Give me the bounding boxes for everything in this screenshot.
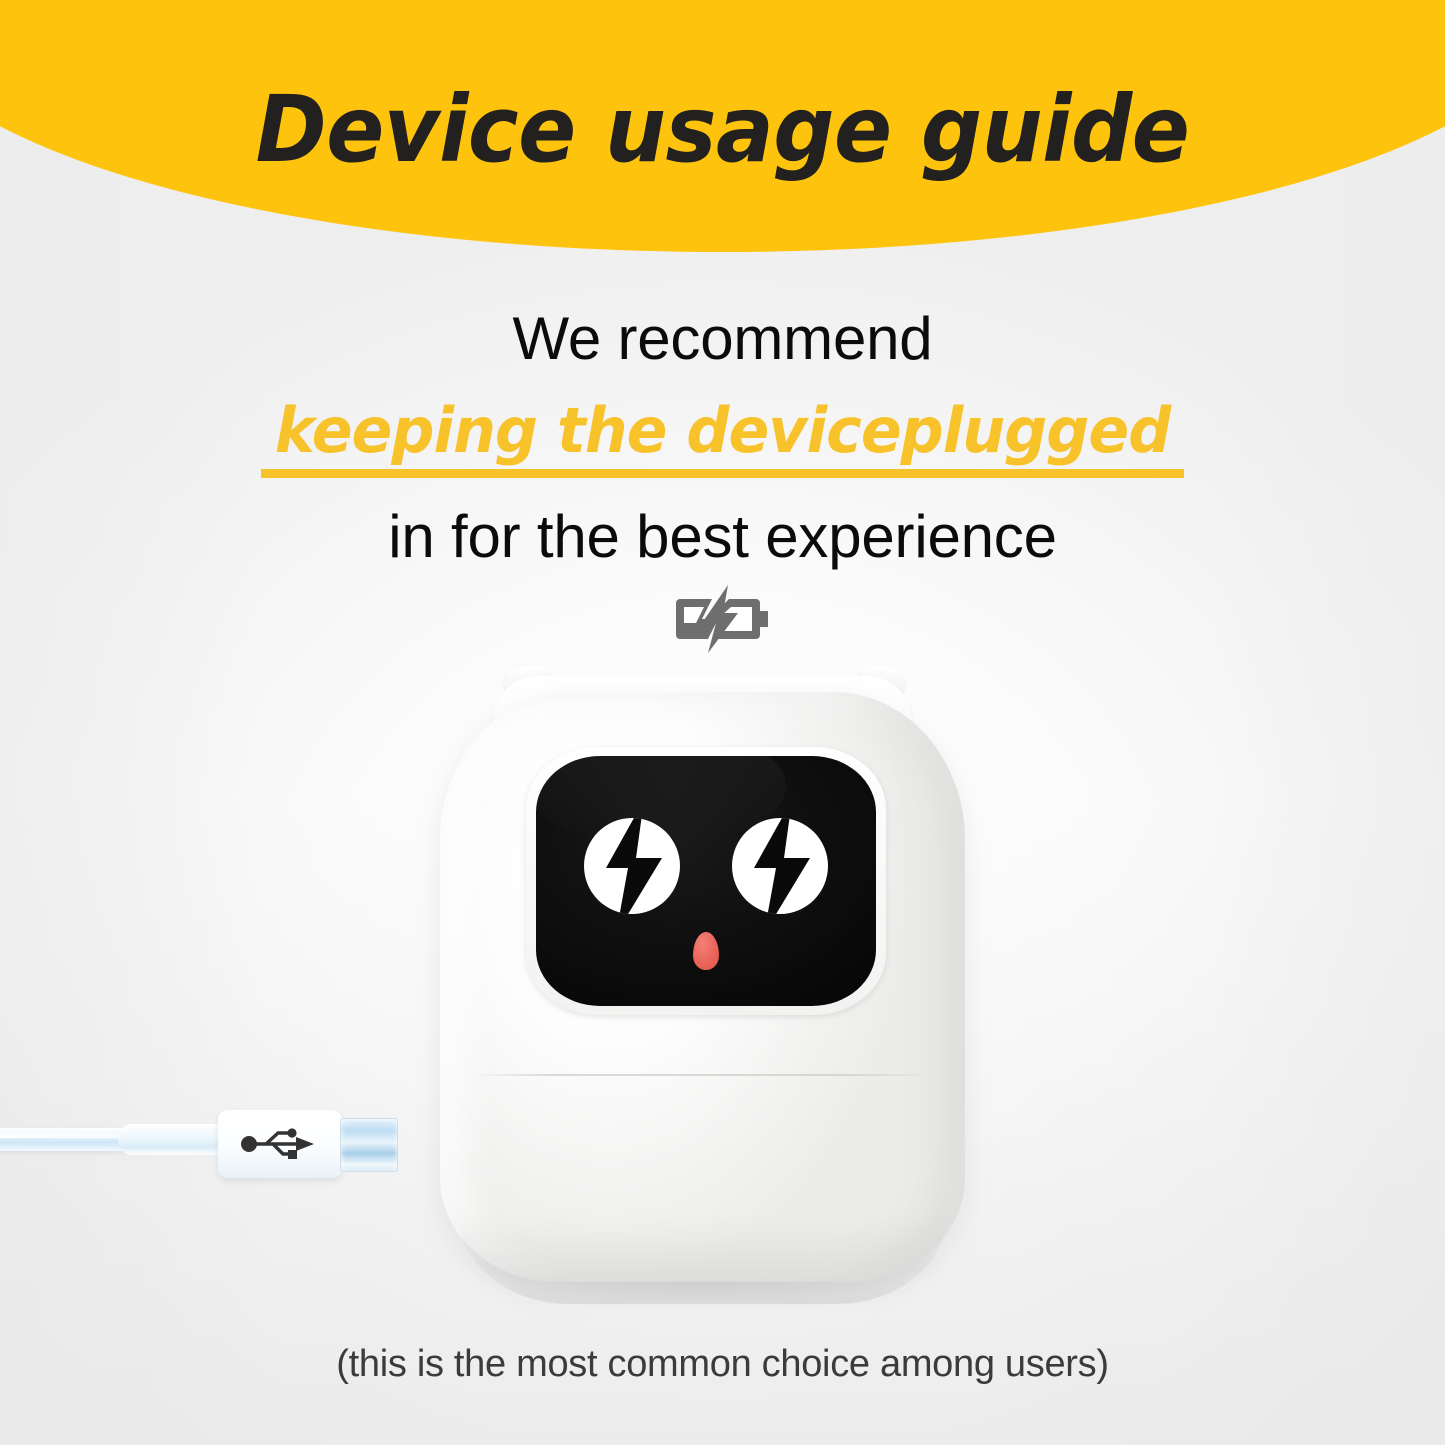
device-nose	[693, 932, 719, 970]
headline-highlight-text: keeping the deviceplugged	[275, 396, 1170, 466]
headline-block: We recommend keeping the deviceplugged i…	[0, 300, 1445, 576]
headline-highlight-wrap: keeping the deviceplugged	[261, 396, 1184, 478]
page-title: Device usage guide	[51, 84, 1395, 176]
device-eye-right	[732, 818, 828, 914]
lightning-bolt-icon	[584, 818, 680, 914]
cable-metal-tip	[340, 1118, 398, 1172]
device-base-shading	[458, 1212, 948, 1304]
footer-caption: (this is the most common choice among us…	[0, 1340, 1445, 1388]
usb-charging-cable	[0, 1090, 420, 1210]
battery-charging-icon	[668, 583, 778, 655]
poster-canvas: Device usage guide We recommend keeping …	[0, 0, 1445, 1445]
headline-underline	[261, 469, 1184, 478]
usb-trident-icon	[240, 1126, 318, 1162]
lightning-bolt-icon	[732, 818, 828, 914]
device-eye-left	[584, 818, 680, 914]
headline-line-3: in for the best experience	[0, 498, 1445, 576]
headline-line-1: We recommend	[0, 300, 1445, 378]
device-seam-line	[470, 1074, 935, 1076]
device-screen	[536, 756, 876, 1006]
cable-strain-relief	[118, 1124, 230, 1155]
device-illustration	[440, 662, 965, 1287]
